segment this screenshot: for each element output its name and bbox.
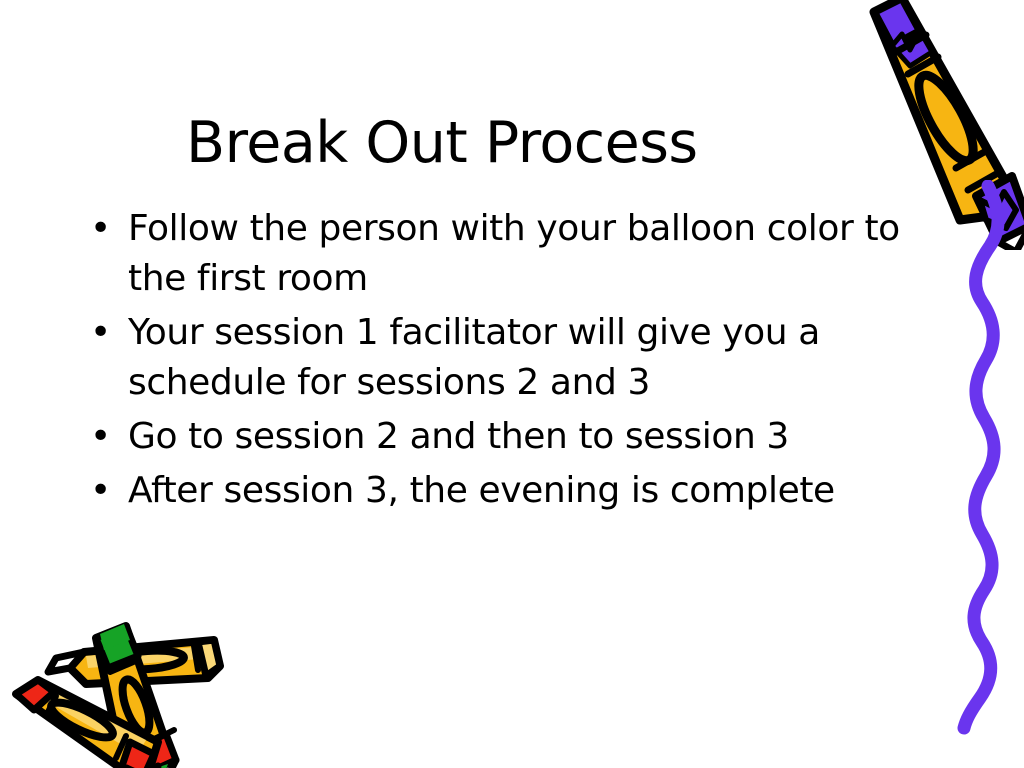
list-item-text: Your session 1 facilitator will give you… bbox=[128, 308, 954, 408]
list-item: • After session 3, the evening is comple… bbox=[84, 466, 954, 516]
bullet-point-icon: • bbox=[90, 466, 120, 516]
bullet-list: • Follow the person with your balloon co… bbox=[84, 204, 954, 520]
list-item: • Follow the person with your balloon co… bbox=[84, 204, 954, 304]
page-title: Break Out Process bbox=[186, 112, 886, 175]
crayon-cluster bbox=[8, 596, 278, 768]
bullet-point-icon: • bbox=[90, 308, 120, 358]
list-item-text: Go to session 2 and then to session 3 bbox=[128, 412, 954, 462]
slide-canvas: Break Out Process • Follow the person wi… bbox=[0, 0, 1024, 768]
list-item: • Go to session 2 and then to session 3 bbox=[84, 412, 954, 462]
list-item-text: After session 3, the evening is complete bbox=[128, 466, 954, 516]
list-item: • Your session 1 facilitator will give y… bbox=[84, 308, 954, 408]
bullet-point-icon: • bbox=[90, 204, 120, 254]
list-item-text: Follow the person with your balloon colo… bbox=[128, 204, 954, 304]
bullet-point-icon: • bbox=[90, 412, 120, 462]
